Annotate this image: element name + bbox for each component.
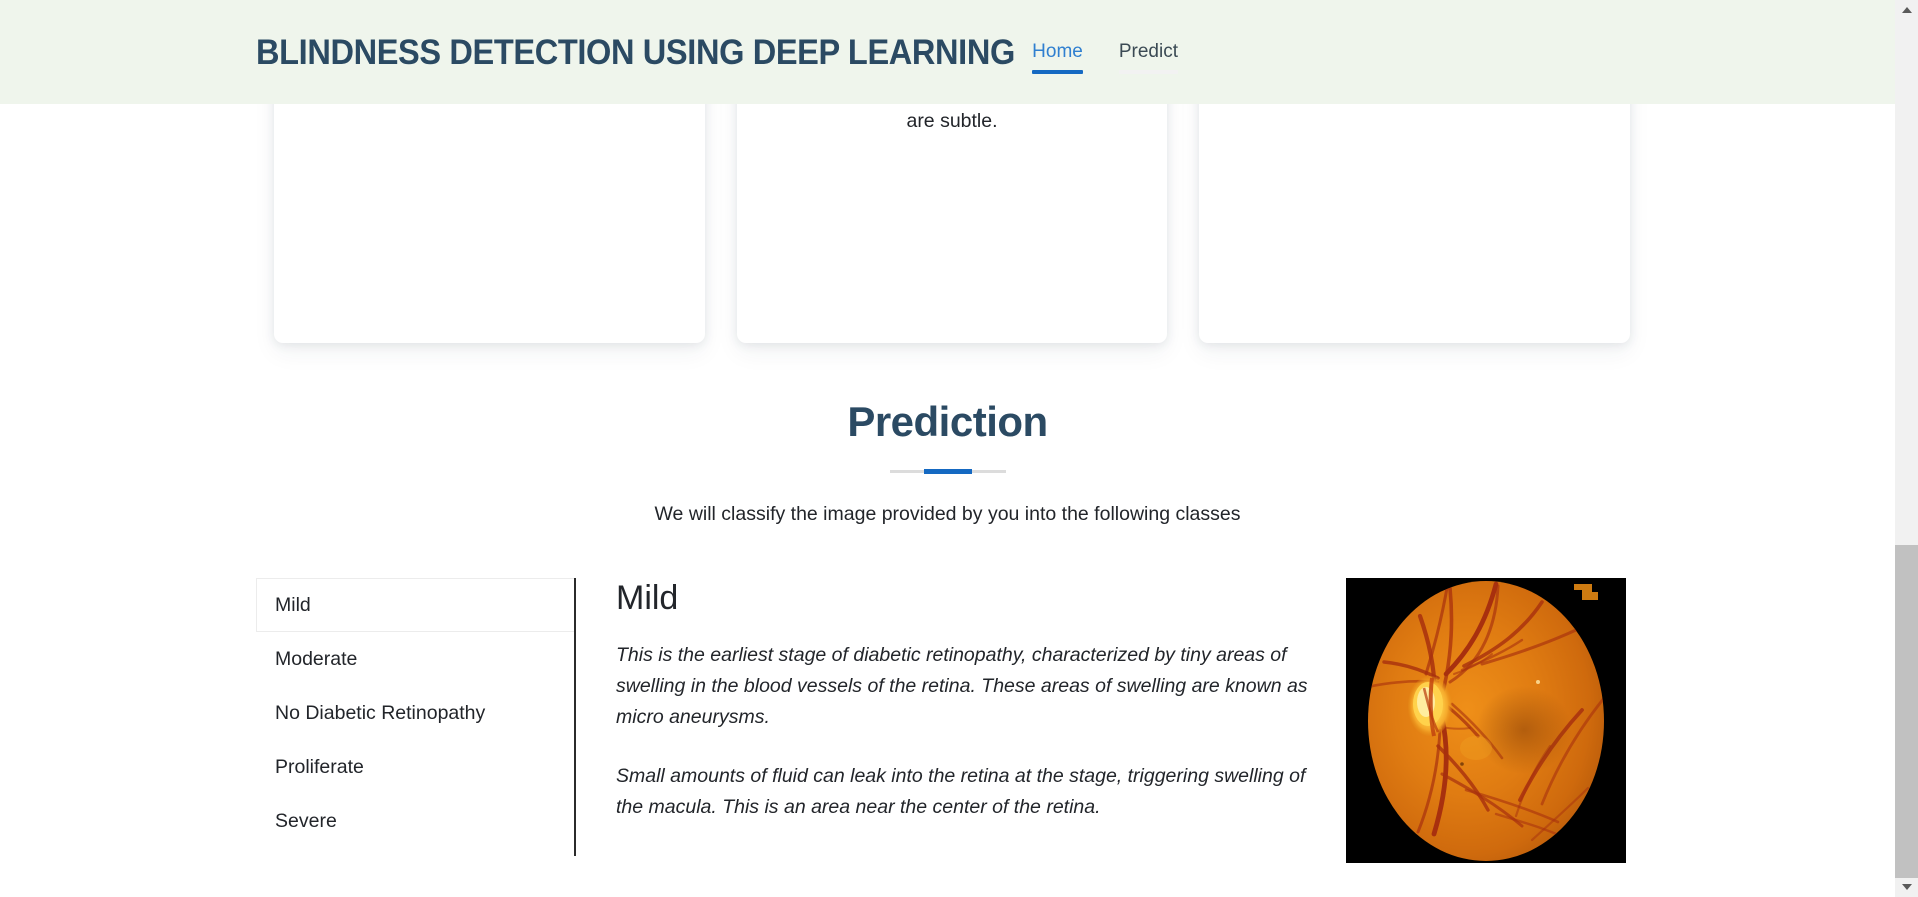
prediction-subtitle: We will classify the image provided by y…	[0, 500, 1895, 528]
tab-no-diabetic-retinopathy-label: No Diabetic Retinopathy	[275, 702, 485, 724]
retina-fundus-image	[1346, 578, 1626, 863]
prediction-section: Prediction We will classify the image pr…	[0, 398, 1895, 528]
panel-paragraph-2: Small amounts of fluid can leak into the…	[616, 761, 1316, 823]
class-tab-panel: Mild This is the earliest stage of diabe…	[576, 578, 1630, 863]
tab-mild[interactable]: Mild	[256, 578, 574, 632]
prediction-title: Prediction	[0, 398, 1895, 446]
panel-heading: Mild	[616, 578, 1316, 618]
nav-item-predict-underline	[1119, 70, 1178, 74]
scroll-down-icon[interactable]	[1895, 877, 1918, 897]
tab-severe-label: Severe	[275, 810, 337, 832]
tab-proliferate-label: Proliferate	[275, 756, 364, 778]
tab-moderate[interactable]: Moderate	[256, 632, 574, 686]
prediction-tabs-area: Mild Moderate No Diabetic Retinopathy Pr…	[256, 578, 1630, 863]
tab-proliferate[interactable]: Proliferate	[256, 740, 574, 794]
retina-fundus-svg	[1346, 578, 1626, 863]
tab-no-diabetic-retinopathy[interactable]: No Diabetic Retinopathy	[256, 686, 574, 740]
nav-item-home-label: Home	[1032, 40, 1083, 64]
scroll-up-icon[interactable]	[1895, 0, 1918, 20]
nav-item-home-underline	[1032, 70, 1083, 74]
tab-mild-label: Mild	[275, 594, 311, 616]
section-divider	[890, 470, 1006, 473]
panel-text-block: Mild This is the earliest stage of diabe…	[616, 578, 1316, 823]
site-header: BLINDNESS DETECTION USING DEEP LEARNING …	[0, 0, 1895, 104]
main-nav: Home Predict	[1025, 40, 1185, 74]
panel-paragraph-1: This is the earliest stage of diabetic r…	[616, 640, 1316, 733]
scrollbar-thumb[interactable]	[1895, 545, 1918, 878]
page-title: BLINDNESS DETECTION USING DEEP LEARNING	[256, 33, 1015, 73]
tab-moderate-label: Moderate	[275, 648, 357, 670]
class-tab-list: Mild Moderate No Diabetic Retinopathy Pr…	[256, 578, 576, 856]
tab-severe[interactable]: Severe	[256, 794, 574, 848]
nav-item-home[interactable]: Home	[1025, 40, 1090, 74]
nav-item-predict[interactable]: Predict	[1112, 40, 1185, 74]
nav-item-predict-label: Predict	[1119, 40, 1178, 64]
app-page: loss of vision decreased field of vision…	[0, 0, 1918, 897]
page-scrollbar[interactable]	[1895, 0, 1918, 897]
